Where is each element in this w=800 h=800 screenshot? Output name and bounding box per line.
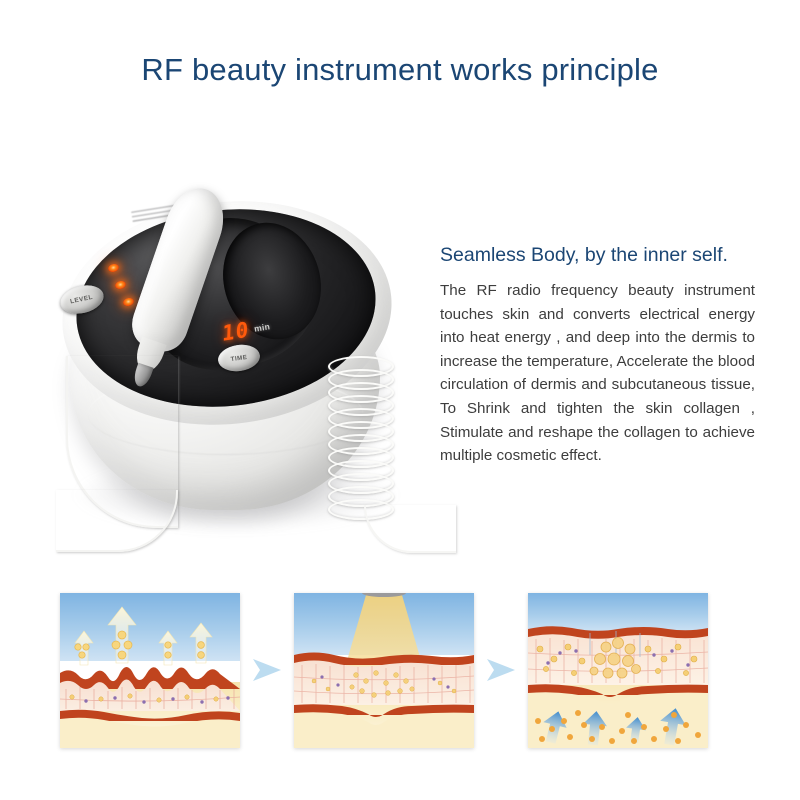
arrow-separator-2 — [474, 657, 528, 683]
description-block: Seamless Body, by the inner self. The RF… — [440, 244, 755, 468]
diagram-panel-wrinkled-skin — [60, 593, 240, 748]
arrow-separator-1 — [240, 657, 294, 683]
diagram-panel-collagen-result — [528, 593, 708, 748]
time-button-label: TIME — [230, 353, 248, 362]
device-photo: LEVEL 10 min TIME — [28, 160, 428, 550]
timer-display-value: 10 — [220, 318, 251, 346]
description-paragraph: The RF radio frequency beauty instrument… — [440, 279, 755, 468]
page-title: RF beauty instrument works principle — [0, 52, 800, 88]
panel1-illustration — [60, 593, 240, 748]
diagram-panel-rf-heating — [294, 593, 474, 748]
panel2-illustration — [294, 593, 474, 748]
chevron-right-icon — [485, 657, 517, 683]
rf-probe-head — [354, 593, 414, 605]
product-infographic: RF beauty instrument works principle LEV… — [0, 0, 800, 800]
skin-diagram-row — [60, 585, 750, 755]
coiled-power-cord — [328, 356, 396, 522]
timer-display-unit: min — [253, 321, 270, 333]
wand-cable-lower — [56, 490, 178, 552]
chevron-right-icon — [251, 657, 283, 683]
panel3-illustration — [528, 593, 708, 748]
description-subheading: Seamless Body, by the inner self. — [440, 244, 755, 267]
level-button-label: LEVEL — [70, 294, 94, 306]
power-cord-tail — [364, 505, 456, 553]
